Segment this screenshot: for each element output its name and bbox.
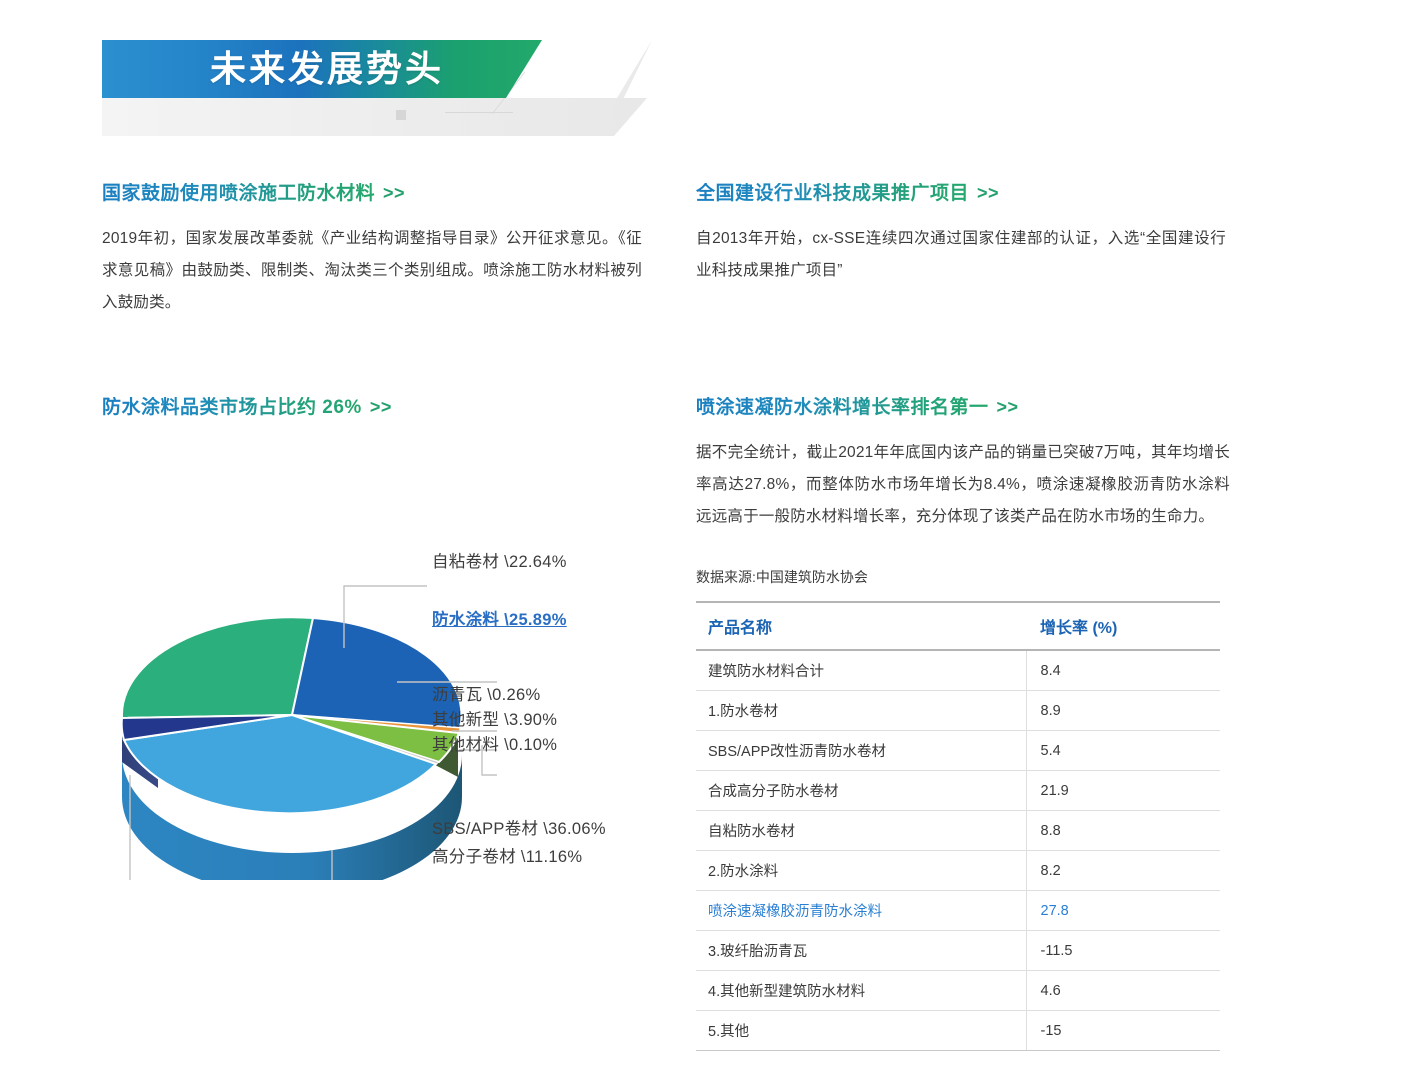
section-title-market-share: 防水涂料品类市场占比约 26%>> bbox=[102, 392, 642, 419]
page-title: 未来发展势头 bbox=[210, 42, 444, 96]
pie-label-zizhan: 自粘卷材 \22.64% bbox=[432, 548, 567, 572]
cell-growth-rate: 5.4 bbox=[1026, 731, 1220, 771]
pie-slice-zizhan bbox=[122, 617, 313, 718]
cell-product-name: 合成高分子防水卷材 bbox=[696, 771, 1026, 811]
section-title-text: 国家鼓励使用喷涂施工防水材料 bbox=[102, 183, 375, 204]
cell-growth-rate: 8.8 bbox=[1026, 811, 1220, 851]
cell-growth-rate: 21.9 bbox=[1026, 771, 1220, 811]
cell-product-name: SBS/APP改性沥青防水卷材 bbox=[696, 731, 1026, 771]
section-body-growth-rank: 据不完全统计，截止2021年年底国内该产品的销量已突破7万吨，其年均增长率高达2… bbox=[696, 437, 1230, 533]
table-body: 建筑防水材料合计8.41.防水卷材8.9SBS/APP改性沥青防水卷材5.4合成… bbox=[696, 650, 1220, 1051]
page-root: 未来发展势头 国家鼓励使用喷涂施工防水材料>> 2019年初，国家发展改革委就《… bbox=[0, 0, 1418, 1084]
right-column: 全国建设行业科技成果推广项目>> 自2013年开始，cx-SSE连续四次通过国家… bbox=[696, 178, 1226, 287]
page-header-banner: 未来发展势头 bbox=[0, 0, 1418, 150]
table-row: 4.其他新型建筑防水材料4.6 bbox=[696, 971, 1220, 1011]
cell-product-name: 建筑防水材料合计 bbox=[696, 650, 1026, 691]
table-row: 2.防水涂料8.2 bbox=[696, 851, 1220, 891]
cell-product-name: 5.其他 bbox=[696, 1011, 1026, 1051]
cell-product-name: 3.玻纤胎沥青瓦 bbox=[696, 931, 1026, 971]
table-row: 喷涂速凝橡胶沥青防水涂料27.8 bbox=[696, 891, 1220, 931]
market-share-pie-chart: 自粘卷材 \22.64% 防水涂料 \25.89% 沥青瓦 \0.26% 其他新… bbox=[102, 530, 662, 880]
banner-gray-strip bbox=[102, 98, 647, 136]
chevron-more-icon[interactable]: >> bbox=[370, 397, 392, 417]
section-title-national-policy: 国家鼓励使用喷涂施工防水材料>> bbox=[102, 178, 642, 205]
section-title-text: 防水涂料品类市场占比约 26% bbox=[102, 397, 362, 418]
table-row: 3.玻纤胎沥青瓦-11.5 bbox=[696, 931, 1220, 971]
section-title-text: 喷涂速凝防水涂料增长率排名第一 bbox=[696, 397, 989, 418]
table-row: 合成高分子防水卷材21.9 bbox=[696, 771, 1220, 811]
section-body-national-policy: 2019年初，国家发展改革委就《产业结构调整指导目录》公开征求意见。《征求意见稿… bbox=[102, 223, 642, 319]
cell-product-name: 4.其他新型建筑防水材料 bbox=[696, 971, 1026, 1011]
cell-product-name: 1.防水卷材 bbox=[696, 691, 1026, 731]
cell-growth-rate: 8.4 bbox=[1026, 650, 1220, 691]
cell-growth-rate: 8.9 bbox=[1026, 691, 1220, 731]
pie-label-qitacailiao: 其他材料 \0.10% bbox=[432, 731, 557, 755]
table-row: 5.其他-15 bbox=[696, 1011, 1220, 1051]
table-header-row: 产品名称 增长率 (%) bbox=[696, 602, 1220, 650]
growth-rate-table: 产品名称 增长率 (%) 建筑防水材料合计8.41.防水卷材8.9SBS/APP… bbox=[696, 601, 1220, 1051]
section-body-promotion-project: 自2013年开始，cx-SSE连续四次通过国家住建部的认证，入选“全国建设行业科… bbox=[696, 223, 1226, 287]
table-row: 1.防水卷材8.9 bbox=[696, 691, 1220, 731]
cell-growth-rate: -11.5 bbox=[1026, 931, 1220, 971]
cell-product-name: 喷涂速凝橡胶沥青防水涂料 bbox=[696, 891, 1026, 931]
chevron-more-icon[interactable]: >> bbox=[977, 183, 999, 203]
pie-label-sbsapp: SBS/APP卷材 \36.06% bbox=[432, 815, 606, 839]
cell-growth-rate: -15 bbox=[1026, 1011, 1220, 1051]
table-row: 自粘防水卷材8.8 bbox=[696, 811, 1220, 851]
column-header-rate: 增长率 (%) bbox=[1026, 602, 1220, 650]
chevron-more-icon[interactable]: >> bbox=[383, 183, 405, 203]
column-header-product: 产品名称 bbox=[696, 602, 1026, 650]
table-row: SBS/APP改性沥青防水卷材5.4 bbox=[696, 731, 1220, 771]
cell-product-name: 2.防水涂料 bbox=[696, 851, 1026, 891]
banner-hairline bbox=[445, 112, 513, 113]
data-source-note: 数据来源:中国建筑防水协会 bbox=[696, 567, 1230, 587]
left-column: 国家鼓励使用喷涂施工防水材料>> 2019年初，国家发展改革委就《产业结构调整指… bbox=[102, 178, 642, 319]
pie-label-liqingwa: 沥青瓦 \0.26% bbox=[432, 681, 540, 705]
section-title-growth-rank: 喷涂速凝防水涂料增长率排名第一>> bbox=[696, 392, 1230, 419]
pie-label-qitaxinxing: 其他新型 \3.90% bbox=[432, 706, 557, 730]
cell-growth-rate: 4.6 bbox=[1026, 971, 1220, 1011]
chevron-more-icon[interactable]: >> bbox=[997, 397, 1019, 417]
left-column-lower: 防水涂料品类市场占比约 26%>> bbox=[102, 392, 642, 437]
section-title-text: 全国建设行业科技成果推广项目 bbox=[696, 183, 969, 204]
section-title-promotion-project: 全国建设行业科技成果推广项目>> bbox=[696, 178, 1226, 205]
cell-growth-rate: 8.2 bbox=[1026, 851, 1220, 891]
cell-growth-rate: 27.8 bbox=[1026, 891, 1220, 931]
banner-square-dot-icon bbox=[396, 110, 406, 120]
cell-product-name: 自粘防水卷材 bbox=[696, 811, 1026, 851]
table-row: 建筑防水材料合计8.4 bbox=[696, 650, 1220, 691]
pie-label-fangshuitulia: 防水涂料 \25.89% bbox=[432, 606, 567, 630]
right-column-lower: 喷涂速凝防水涂料增长率排名第一>> 据不完全统计，截止2021年年底国内该产品的… bbox=[696, 392, 1230, 1051]
pie-label-gaofenzi: 高分子卷材 \11.16% bbox=[432, 843, 582, 867]
table-header: 产品名称 增长率 (%) bbox=[696, 602, 1220, 650]
